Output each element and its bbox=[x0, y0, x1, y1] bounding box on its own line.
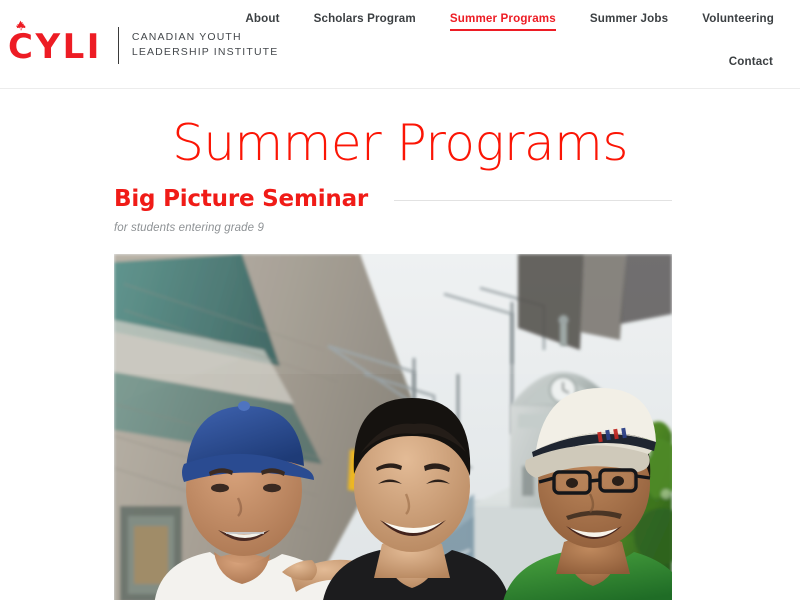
maple-leaf-icon bbox=[14, 20, 27, 33]
logo-wordmark-text: CYLI bbox=[8, 27, 102, 67]
nav-row-secondary: Contact bbox=[284, 55, 774, 74]
program-section-big-picture-seminar: Big Picture Seminar for students enterin… bbox=[114, 185, 672, 600]
page-title: Summer Programs bbox=[0, 115, 800, 171]
logo-wordmark: CYLI bbox=[8, 26, 102, 64]
site-logo[interactable]: CYLI CANADIAN YOUTH LEADERSHIP INSTITUTE bbox=[8, 22, 278, 68]
program-heading-row: Big Picture Seminar bbox=[114, 185, 672, 213]
program-photo bbox=[114, 254, 672, 600]
main-navigation: About Scholars Program Summer Programs S… bbox=[284, 12, 774, 74]
logo-tagline-line2: LEADERSHIP INSTITUTE bbox=[132, 46, 279, 58]
nav-item-volunteering[interactable]: Volunteering bbox=[702, 12, 774, 31]
program-heading: Big Picture Seminar bbox=[114, 185, 368, 213]
nav-item-about[interactable]: About bbox=[245, 12, 279, 31]
program-heading-rule bbox=[394, 200, 672, 201]
nav-item-summer-programs[interactable]: Summer Programs bbox=[450, 12, 556, 31]
nav-row-primary: About Scholars Program Summer Programs S… bbox=[284, 12, 774, 31]
site-header: CYLI CANADIAN YOUTH LEADERSHIP INSTITUTE… bbox=[0, 0, 800, 89]
nav-item-scholars-program[interactable]: Scholars Program bbox=[314, 12, 416, 31]
logo-divider bbox=[118, 27, 119, 64]
nav-item-summer-jobs[interactable]: Summer Jobs bbox=[590, 12, 668, 31]
program-subtitle: for students entering grade 9 bbox=[114, 220, 672, 236]
main-content: Summer Programs Big Picture Seminar for … bbox=[0, 115, 800, 600]
logo-tagline: CANADIAN YOUTH LEADERSHIP INSTITUTE bbox=[132, 30, 279, 60]
program-photo-image bbox=[114, 254, 672, 600]
logo-tagline-line1: CANADIAN YOUTH bbox=[132, 31, 242, 43]
nav-item-contact[interactable]: Contact bbox=[729, 55, 773, 74]
